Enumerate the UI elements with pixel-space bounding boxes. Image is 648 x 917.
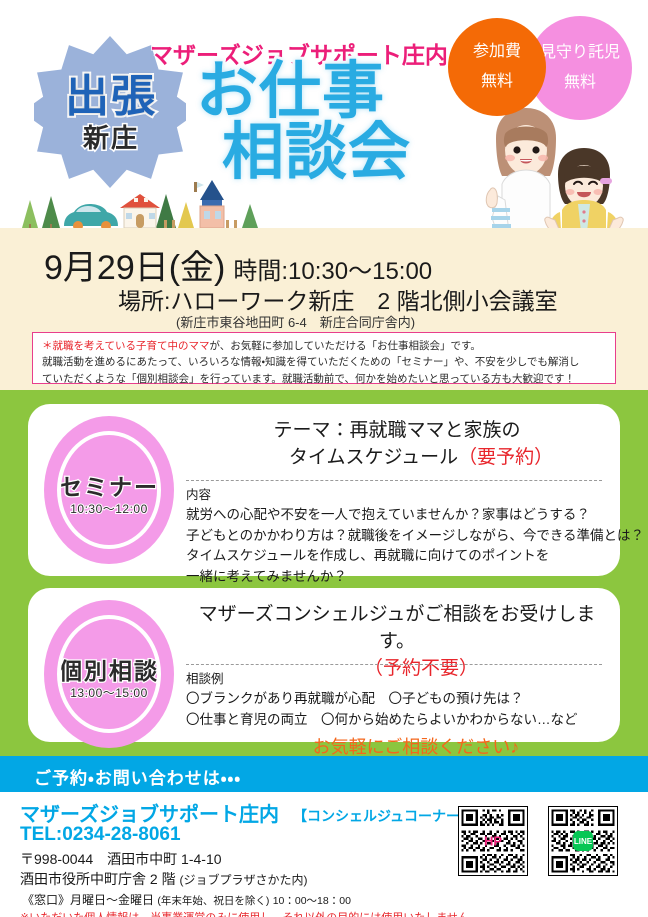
badge-fee-label: 参加費	[473, 37, 521, 67]
qr-line-label: LINE	[573, 831, 593, 851]
event-address: (新庄市東谷地田町 6-4 新庄合同庁舎内)	[176, 312, 415, 331]
contact-hours-value: 10：00〜18：00	[273, 895, 351, 907]
seminar-body: 内容 就労への心配や不安を一人で抱えていませんか？家事はどうする？ 子どもとのか…	[186, 486, 606, 587]
notice-line-2: 就職活動を進めるにあたって、いろいろな情報・知識を得ていただくための「セミナー」…	[42, 354, 607, 370]
seminar-badge: セミナー 10:30〜12:00	[44, 416, 174, 564]
event-time: 時間:10:30〜15:00	[233, 258, 432, 285]
hero-section: 出張 新庄 マザーズジョブサポート庄内 お仕事 相談会 見守り託児 無料 参加費…	[0, 0, 648, 232]
notice-line-1: ＊就職を考えている子育て中のママが、お気軽に参加していただける「お仕事相談会」で…	[42, 338, 607, 354]
badge-fee: 参加費 無料	[448, 18, 546, 116]
contact-address-line-2-main: 酒田市役所中町庁舎 2 階	[20, 871, 176, 887]
kobetsu-body-line: 〇仕事と育児の両立 〇何から始めたらよいかわからない…など	[186, 710, 606, 731]
seminar-body-label: 内容	[186, 486, 606, 505]
contact-header-bar: ご予約・お問い合わせは・・・	[0, 756, 648, 792]
kobetsu-heading-line-1: マザーズコンシェルジュがご相談をお受けします。	[186, 602, 602, 656]
privacy-note: ※いただいた個人情報は、当事業運営のみに使用し、それ以外の目的には使用いたしませ…	[20, 909, 480, 917]
qr-code-homepage[interactable]: HP	[458, 806, 528, 876]
kobetsu-body: 相談例 〇ブランクがあり再就職が心配 〇子どもの預け先は？ 〇仕事と育児の両立 …	[186, 670, 606, 761]
red-roof-house	[120, 194, 160, 228]
contact-hours-exception: (年末年始、祝日を除く)	[157, 895, 269, 907]
kobetsu-badge-time: 13:00〜15:00	[44, 684, 174, 701]
contact-header-title: ご予約・お問い合わせは・・・	[34, 764, 241, 789]
seminar-body-line: タイムスケジュールを作成し、再就職に向けてのポイントを	[186, 546, 606, 567]
kobetsu-badge: 個別相談 13:00〜15:00	[44, 600, 174, 748]
qr-code-line[interactable]: LINE	[548, 806, 618, 876]
town-scene-illustration	[8, 176, 274, 232]
seminar-badge-time: 10:30〜12:00	[44, 500, 174, 517]
notice-line-1-rest: が、お気軽に参加していただける「お仕事相談会」です。	[209, 340, 480, 352]
hero-title-line-2: 相談会	[222, 123, 496, 184]
contact-org-line: マザーズジョブサポート庄内【コンシェルジュコーナー】	[20, 798, 474, 827]
badge-childcare-value: 無料	[564, 68, 596, 98]
notice-box: ＊就職を考えている子育て中のママが、お気軽に参加していただける「お仕事相談会」で…	[32, 332, 616, 384]
badge-fee-value: 無料	[481, 67, 513, 97]
contact-address-line-2-sub: (ジョブプラザさかた内)	[179, 873, 307, 887]
kobetsu-badge-label: 個別相談	[44, 652, 174, 686]
notice-line-3: ていただくような「個別相談会」を行っています。就職活動前で、何かを始めたいと思っ…	[42, 371, 607, 387]
seminar-body-line: 一緒に考えてみませんか？	[186, 567, 606, 588]
flyer-page: 出張 新庄 マザーズジョブサポート庄内 お仕事 相談会 見守り託児 無料 参加費…	[0, 0, 648, 917]
seminar-card: セミナー 10:30〜12:00 テーマ：再就職ママと家族の タイムスケジュール…	[28, 404, 620, 576]
seminar-heading-line-2: タイムスケジュール（要予約）	[186, 445, 602, 472]
notice-highlight: ＊就職を考えている子育て中のママ	[42, 340, 209, 352]
starburst-label-secondary: 新庄	[40, 118, 182, 155]
contact-address-line-2: 酒田市役所中町庁舎 2 階 (ジョブプラザさかた内)	[20, 869, 307, 889]
kobetsu-body-label: 相談例	[186, 670, 606, 689]
event-place: 場所:ハローワーク新庄 2 階北側小会議室	[118, 282, 558, 316]
contact-address-line-1: 〒998-0044 酒田市中町 1-4-10	[20, 849, 222, 869]
seminar-heading-line-2-text: タイムスケジュール	[289, 447, 458, 468]
mother-and-child-illustration	[462, 104, 648, 232]
contact-hours: 《窓口》月曜日〜金曜日 (年末年始、祝日を除く) 10：00〜18：00	[22, 891, 351, 908]
contact-org-name: マザーズジョブサポート庄内	[20, 804, 279, 826]
kobetsu-body-line: 〇ブランクがあり再就職が心配 〇子どもの預け先は？	[186, 689, 606, 710]
programs-section: セミナー 10:30〜12:00 テーマ：再就職ママと家族の タイムスケジュール…	[0, 390, 648, 756]
hero-title-line-1: お仕事	[196, 57, 385, 126]
contact-telephone[interactable]: TEL:0234-28-8061	[20, 824, 181, 846]
seminar-heading: テーマ：再就職ママと家族の タイムスケジュール（要予約）	[186, 418, 602, 472]
car	[64, 204, 118, 231]
blue-tower-house	[194, 180, 224, 228]
seminar-divider	[186, 480, 602, 481]
contact-section: マザーズジョブサポート庄内【コンシェルジュコーナー】 TEL:0234-28-8…	[0, 792, 648, 917]
contact-hours-label: 《窓口》月曜日〜金曜日	[22, 893, 154, 907]
contact-corner-label: 【コンシェルジュコーナー】	[293, 808, 474, 824]
individual-consultation-card: 個別相談 13:00〜15:00 マザーズコンシェルジュがご相談をお受けします。…	[28, 588, 620, 742]
seminar-body-line: 就労への心配や不安を一人で抱えていませんか？家事はどうする？	[186, 505, 606, 526]
seminar-body-line: 子どもとのかかわり方は？就職後をイメージしながら、今できる準備とは？	[186, 526, 606, 547]
event-info-band: 9月29日(金)時間:10:30〜15:00 場所:ハローワーク新庄 2 階北側…	[0, 228, 648, 390]
badge-childcare-label: 見守り託児	[540, 38, 620, 68]
kobetsu-divider	[186, 664, 602, 665]
seminar-heading-line-1: テーマ：再就職ママと家族の	[186, 418, 602, 445]
qr-homepage-label: HP	[484, 834, 502, 849]
seminar-badge-label: セミナー	[44, 468, 174, 502]
seminar-reservation-note: （要予約）	[458, 447, 553, 468]
